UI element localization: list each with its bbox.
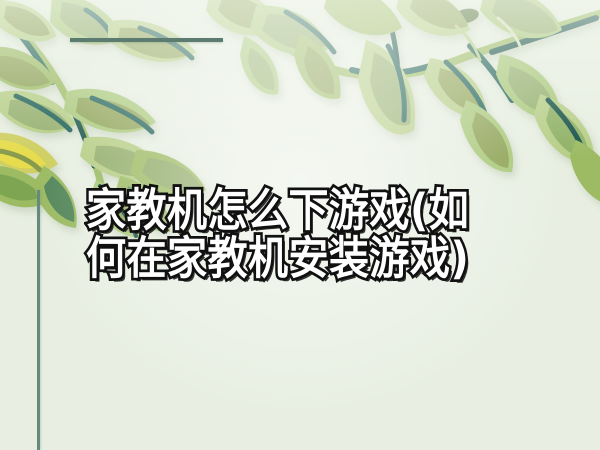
leaf-group-top-right [206, 0, 600, 206]
title-line-1: 家教机怎么下游戏(如 [86, 184, 556, 238]
vertical-rule-decoration [37, 190, 40, 450]
poster-canvas: 家教机怎么下游戏(如 何在家教机安装游戏) [0, 0, 600, 450]
poster-title: 家教机怎么下游戏(如 何在家教机安装游戏) [86, 184, 556, 280]
horizontal-rule-decoration [70, 38, 223, 42]
title-line-2: 何在家教机安装游戏) [86, 232, 556, 286]
